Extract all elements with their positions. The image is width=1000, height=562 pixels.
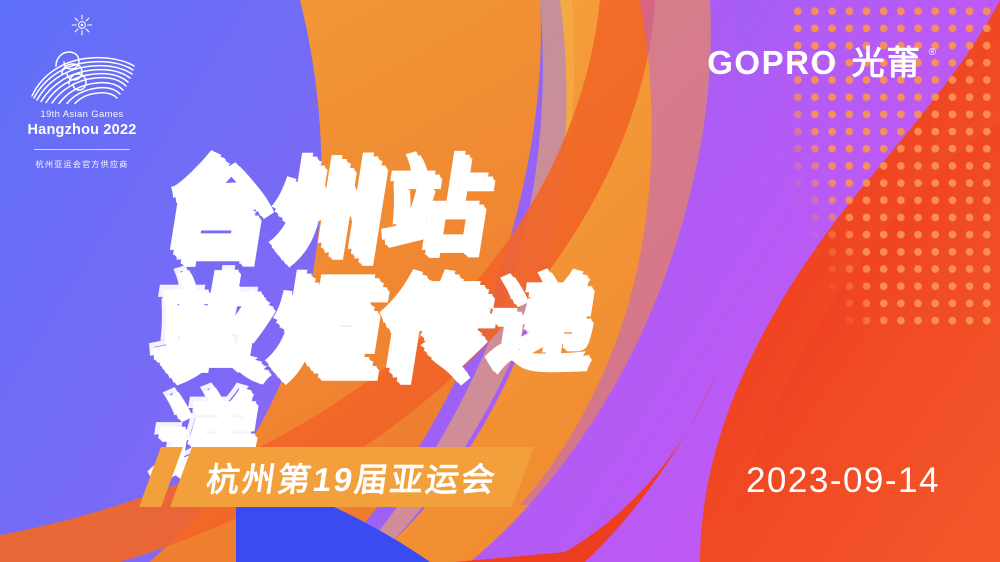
emblem-subtitle-en: 19th Asian Games <box>12 109 152 120</box>
emblem-divider <box>34 149 130 150</box>
hangzhou-2022-emblem-icon <box>26 40 138 104</box>
registered-trademark-icon: ® <box>929 48 936 58</box>
subtitle-band-group: 杭州第19届亚运会 <box>150 447 523 507</box>
gopro-wordmark-cn: 光莆 <box>852 46 922 79</box>
asian-games-emblem-block: 19th Asian Games Hangzhou 2022 杭州亚运会官方供应… <box>12 14 152 170</box>
sunburst-icon <box>71 14 93 36</box>
emblem-supplier-cn: 杭州亚运会官方供应商 <box>12 158 152 170</box>
emblem-title-en: Hangzhou 2022 <box>12 121 152 139</box>
poster-canvas: 19th Asian Games Hangzhou 2022 杭州亚运会官方供应… <box>0 0 1000 562</box>
gopro-wordmark: GOPRO <box>707 46 837 79</box>
headline-line-1: 台州站 台州站 <box>152 152 605 258</box>
headline-block: 台州站 台州站 火炬传递 火炬传递 <box>160 152 596 376</box>
headline-line-1-text: 台州站 <box>151 147 502 263</box>
subtitle-text: 杭州第19届亚运会 <box>204 453 501 501</box>
headline-line-2-text: 火炬传递 <box>151 265 605 381</box>
headline-line-2: 火炬传递 火炬传递 <box>152 270 605 376</box>
gopro-brand-lockup: GOPRO 光莆 ® <box>707 46 936 79</box>
subtitle-band: 杭州第19届亚运会 <box>170 447 534 507</box>
event-date: 2023-09-14 <box>746 461 940 501</box>
